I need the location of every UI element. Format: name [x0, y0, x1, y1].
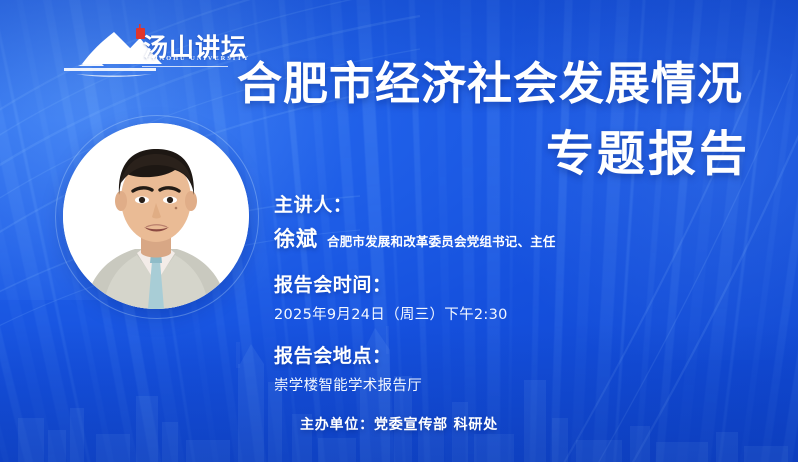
speaker-name: 徐斌: [274, 223, 318, 253]
time-label: 报告会时间：: [274, 270, 694, 297]
page-title-line-1: 合肥市经济社会发展情况: [237, 61, 743, 106]
place-label: 报告会地点：: [274, 341, 694, 368]
speaker-label: 主讲人：: [274, 190, 694, 217]
place-block: 报告会地点： 崇学楼智能学术报告厅: [274, 341, 694, 395]
time-value: 2025年9月24日（周三）下午2:30: [274, 303, 694, 324]
speaker-row: 徐斌 合肥市发展和改革委员会党组书记、主任: [274, 223, 694, 253]
page-title-line-2: 专题报告: [546, 130, 750, 178]
speaker-portrait: [63, 123, 249, 309]
organizer-line: 主办单位：党委宣传部 科研处: [0, 414, 798, 434]
time-block: 报告会时间： 2025年9月24日（周三）下午2:30: [274, 270, 694, 324]
logo-rule-divider: [142, 66, 228, 67]
poster-root: 汤山讲坛 CHAOHU UNIVERSITY 合肥市经济社会发展情况 专题报告: [0, 0, 798, 462]
place-value: 崇学楼智能学术报告厅: [274, 374, 694, 395]
event-info-block: 主讲人： 徐斌 合肥市发展和改革委员会党组书记、主任 报告会时间： 2025年9…: [274, 190, 694, 395]
logo-english-name: CHAOHU UNIVERSITY: [146, 55, 250, 62]
speaker-title: 合肥市发展和改革委员会党组书记、主任: [327, 231, 556, 250]
